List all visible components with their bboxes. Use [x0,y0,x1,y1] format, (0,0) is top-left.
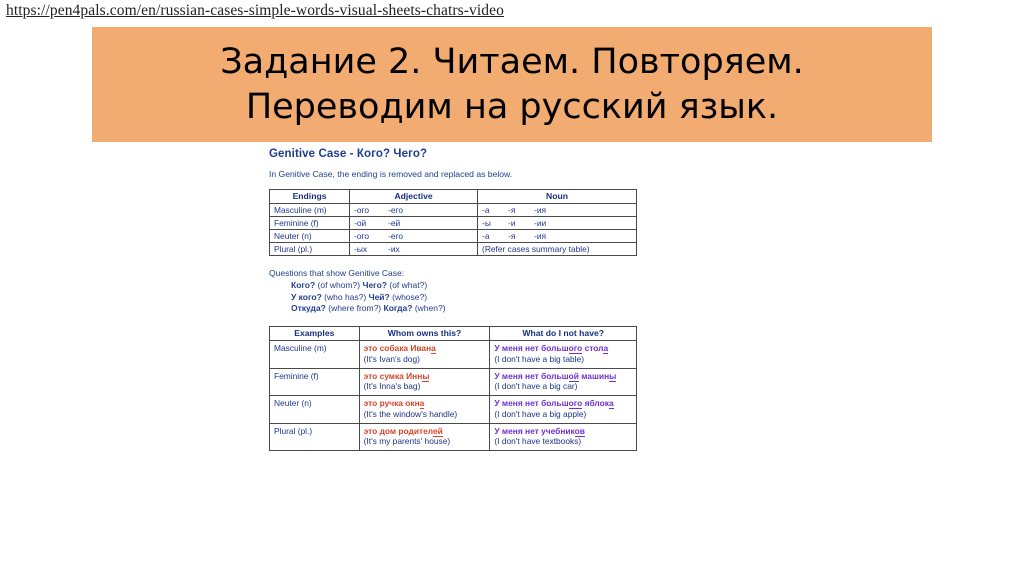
row-label: Feminine (f) [270,368,360,396]
negation-gloss: (I don't have a big table) [494,354,584,364]
question-ru: Когда? [384,303,413,313]
noun-ending-3: -ия [534,205,546,215]
owner-stem: это ручка окн [364,398,420,408]
question-en: (who has?) [324,292,366,302]
owner-phrase: это сумка Инны [364,371,430,382]
table-row: Feminine (f) -ой-ей -ы-и-ии [270,217,637,230]
column-header-endings: Endings [270,190,350,204]
row-noun: -ы-и-ии [478,217,637,230]
column-header-owner: Whom owns this? [359,327,490,341]
adjective-ending-2: -их [388,244,400,254]
adjective-ending-2: -его [388,205,403,215]
row-owner-example: это дом родителей (It's my parents' hous… [359,423,490,451]
row-label: Neuter (n) [270,396,360,424]
question-line: Кого? (of whom?) Чего? (of what?) [291,280,662,290]
owner-gloss: (It's the window's handle) [364,409,458,419]
negation-stem: У меня нет больш [494,371,568,381]
row-negation-example: У меня нет учебников (I don't have textb… [490,423,637,451]
row-label: Neuter (n) [270,230,350,243]
negation-adj-ending: ого [569,343,583,354]
question-ru: Кого? [291,280,315,290]
owner-stem: это сумка Инн [364,371,423,381]
row-negation-example: У меня нет большого стола (I don't have … [490,341,637,369]
table-row: Masculine (m) это собака Ивана (It's Iva… [270,341,637,369]
table-row: Plural (pl.) это дом родителей (It's my … [270,423,637,451]
question-en: (whose?) [392,292,427,302]
question-en: (of whom?) [318,280,361,290]
row-noun: -а-я-ия [478,204,637,217]
negation-adj-ending: ой [569,371,579,382]
question-ru: Откуда? [291,303,326,313]
page-title: Задание 2. Читаем. Повторяем. Переводим … [92,40,932,130]
column-header-examples: Examples [270,327,360,341]
column-header-adjective: Adjective [350,190,478,204]
sheet-subheading: In Genitive Case, the ending is removed … [269,169,662,179]
adjective-ending-1: -ого [354,205,388,215]
owner-gloss: (It's Inna's bag) [364,381,421,391]
question-ru: У кого? [291,292,322,302]
row-label: Feminine (f) [270,217,350,230]
question-line: У кого? (who has?) Чей? (whose?) [291,292,662,302]
question-en: (of what?) [389,280,427,290]
question-line: Откуда? (where from?) Когда? (when?) [291,303,662,313]
negation-noun-ending: ы [609,371,616,382]
row-label: Plural (pl.) [270,243,350,256]
owner-stem: это дом родител [364,426,433,436]
adjective-ending-2: -его [388,231,403,241]
table-row: Neuter (n) -ого-его -а-я-ия [270,230,637,243]
sheet-heading: Genitive Case - Кого? Чего? [269,148,662,160]
row-adjective: -ого-его [350,230,478,243]
question-ru: Чей? [369,292,390,302]
slide-canvas: Задание 2. Читаем. Повторяем. Переводим … [0,22,1024,575]
negation-noun-ending: а [609,398,614,409]
owner-ending: а [420,398,425,409]
table-header-row: Endings Adjective Noun [270,190,637,204]
owner-gloss: (It's my parents' house) [364,436,451,446]
negation-phrase: У меня нет большой машины [494,371,616,382]
genitive-questions-block: Questions that show Genitive Case: Кого?… [269,268,662,313]
negation-gloss: (I don't have a big car) [494,381,577,391]
noun-ending-2: -и [508,218,534,228]
column-header-noun: Noun [478,190,637,204]
column-header-negation: What do I not have? [490,327,637,341]
noun-ending-1: -а [482,231,508,241]
table-header-row: Examples Whom owns this? What do I not h… [270,327,637,341]
row-label: Masculine (m) [270,204,350,217]
endings-table: Endings Adjective Noun Masculine (m) -ог… [269,189,637,256]
negation-noun-stem: стол [585,343,604,353]
negation-noun-stem: машин [581,371,609,381]
table-row: Feminine (f) это сумка Инны (It's Inna's… [270,368,637,396]
examples-table: Examples Whom owns this? What do I not h… [269,326,637,451]
table-row: Neuter (n) это ручка окна (It's the wind… [270,396,637,424]
adjective-ending-1: -ой [354,218,388,228]
adjective-ending-2: -ей [388,218,400,228]
question-en: (when?) [415,303,446,313]
genitive-case-sheet: Genitive Case - Кого? Чего? In Genitive … [262,148,662,451]
negation-phrase: У меня нет большого стола [494,343,608,354]
row-label: Masculine (m) [270,341,360,369]
row-negation-example: У меня нет большого яблока (I don't have… [490,396,637,424]
negation-noun-stem: яблок [585,398,609,408]
noun-ending-3: -ия [534,231,546,241]
negation-noun-ending: а [603,343,608,354]
negation-gloss: (I don't have textbooks) [494,436,581,446]
noun-ending-1: -ы [482,218,508,228]
negation-stem: У меня нет учебник [494,426,574,436]
negation-adj-ending: ого [569,398,583,409]
negation-stem: У меня нет больш [494,398,568,408]
noun-ending-3: -ии [534,218,546,228]
row-owner-example: это ручка окна (It's the window's handle… [359,396,490,424]
negation-phrase: У меня нет большого яблока [494,398,613,409]
address-bar-url[interactable]: https://pen4pals.com/en/russian-cases-si… [6,2,504,20]
owner-phrase: это ручка окна [364,398,425,409]
row-negation-example: У меня нет большой машины (I don't have … [490,368,637,396]
owner-ending: а [431,343,436,354]
row-adjective: -ой-ей [350,217,478,230]
row-noun: -а-я-ия [478,230,637,243]
negation-gloss: (I don't have a big apple) [494,409,586,419]
table-row: Plural (pl.) -ых-их (Refer cases summary… [270,243,637,256]
question-en: (where from?) [328,303,381,313]
row-noun: (Refer cases summary table) [478,243,637,256]
row-owner-example: это сумка Инны (It's Inna's bag) [359,368,490,396]
adjective-ending-1: -ого [354,231,388,241]
negation-stem: У меня нет больш [494,343,568,353]
questions-label: Questions that show Genitive Case: [269,268,662,278]
owner-phrase: это дом родителей [364,426,443,437]
owner-phrase: это собака Ивана [364,343,436,354]
noun-ending-2: -я [508,205,534,215]
row-adjective: -ого-его [350,204,478,217]
owner-gloss: (It's Ivan's dog) [364,354,420,364]
owner-ending: ей [433,426,443,437]
row-adjective: -ых-их [350,243,478,256]
row-owner-example: это собака Ивана (It's Ivan's dog) [359,341,490,369]
owner-stem: это собака Иван [364,343,432,353]
noun-ending-2: -я [508,231,534,241]
negation-phrase: У меня нет учебников [494,426,585,437]
question-ru: Чего? [362,280,387,290]
negation-adj-ending: ов [575,426,585,437]
owner-ending: ы [422,371,429,382]
row-label: Plural (pl.) [270,423,360,451]
slide-title-banner: Задание 2. Читаем. Повторяем. Переводим … [92,27,932,142]
table-row: Masculine (m) -ого-его -а-я-ия [270,204,637,217]
noun-ending-1: -а [482,205,508,215]
adjective-ending-1: -ых [354,244,388,254]
